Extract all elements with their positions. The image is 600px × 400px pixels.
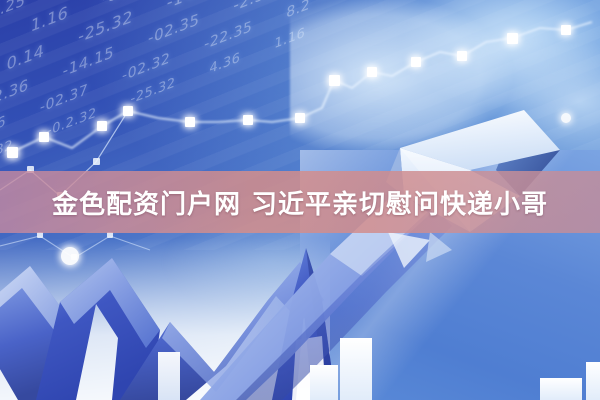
headline-title: 金色配资门户网 习近平亲切慰问快递小哥 — [0, 171, 600, 233]
bar-item — [586, 362, 600, 400]
bar-item — [540, 378, 582, 400]
bar-item — [340, 338, 372, 400]
lens-flare-right — [561, 113, 571, 123]
bar-item — [310, 365, 338, 400]
stock-market-banner-image: -1.25 -0.25 -5.35 -11.25 +45.02 -02.36 -… — [0, 0, 600, 400]
lens-flare — [61, 247, 79, 265]
bar-item — [158, 352, 180, 400]
